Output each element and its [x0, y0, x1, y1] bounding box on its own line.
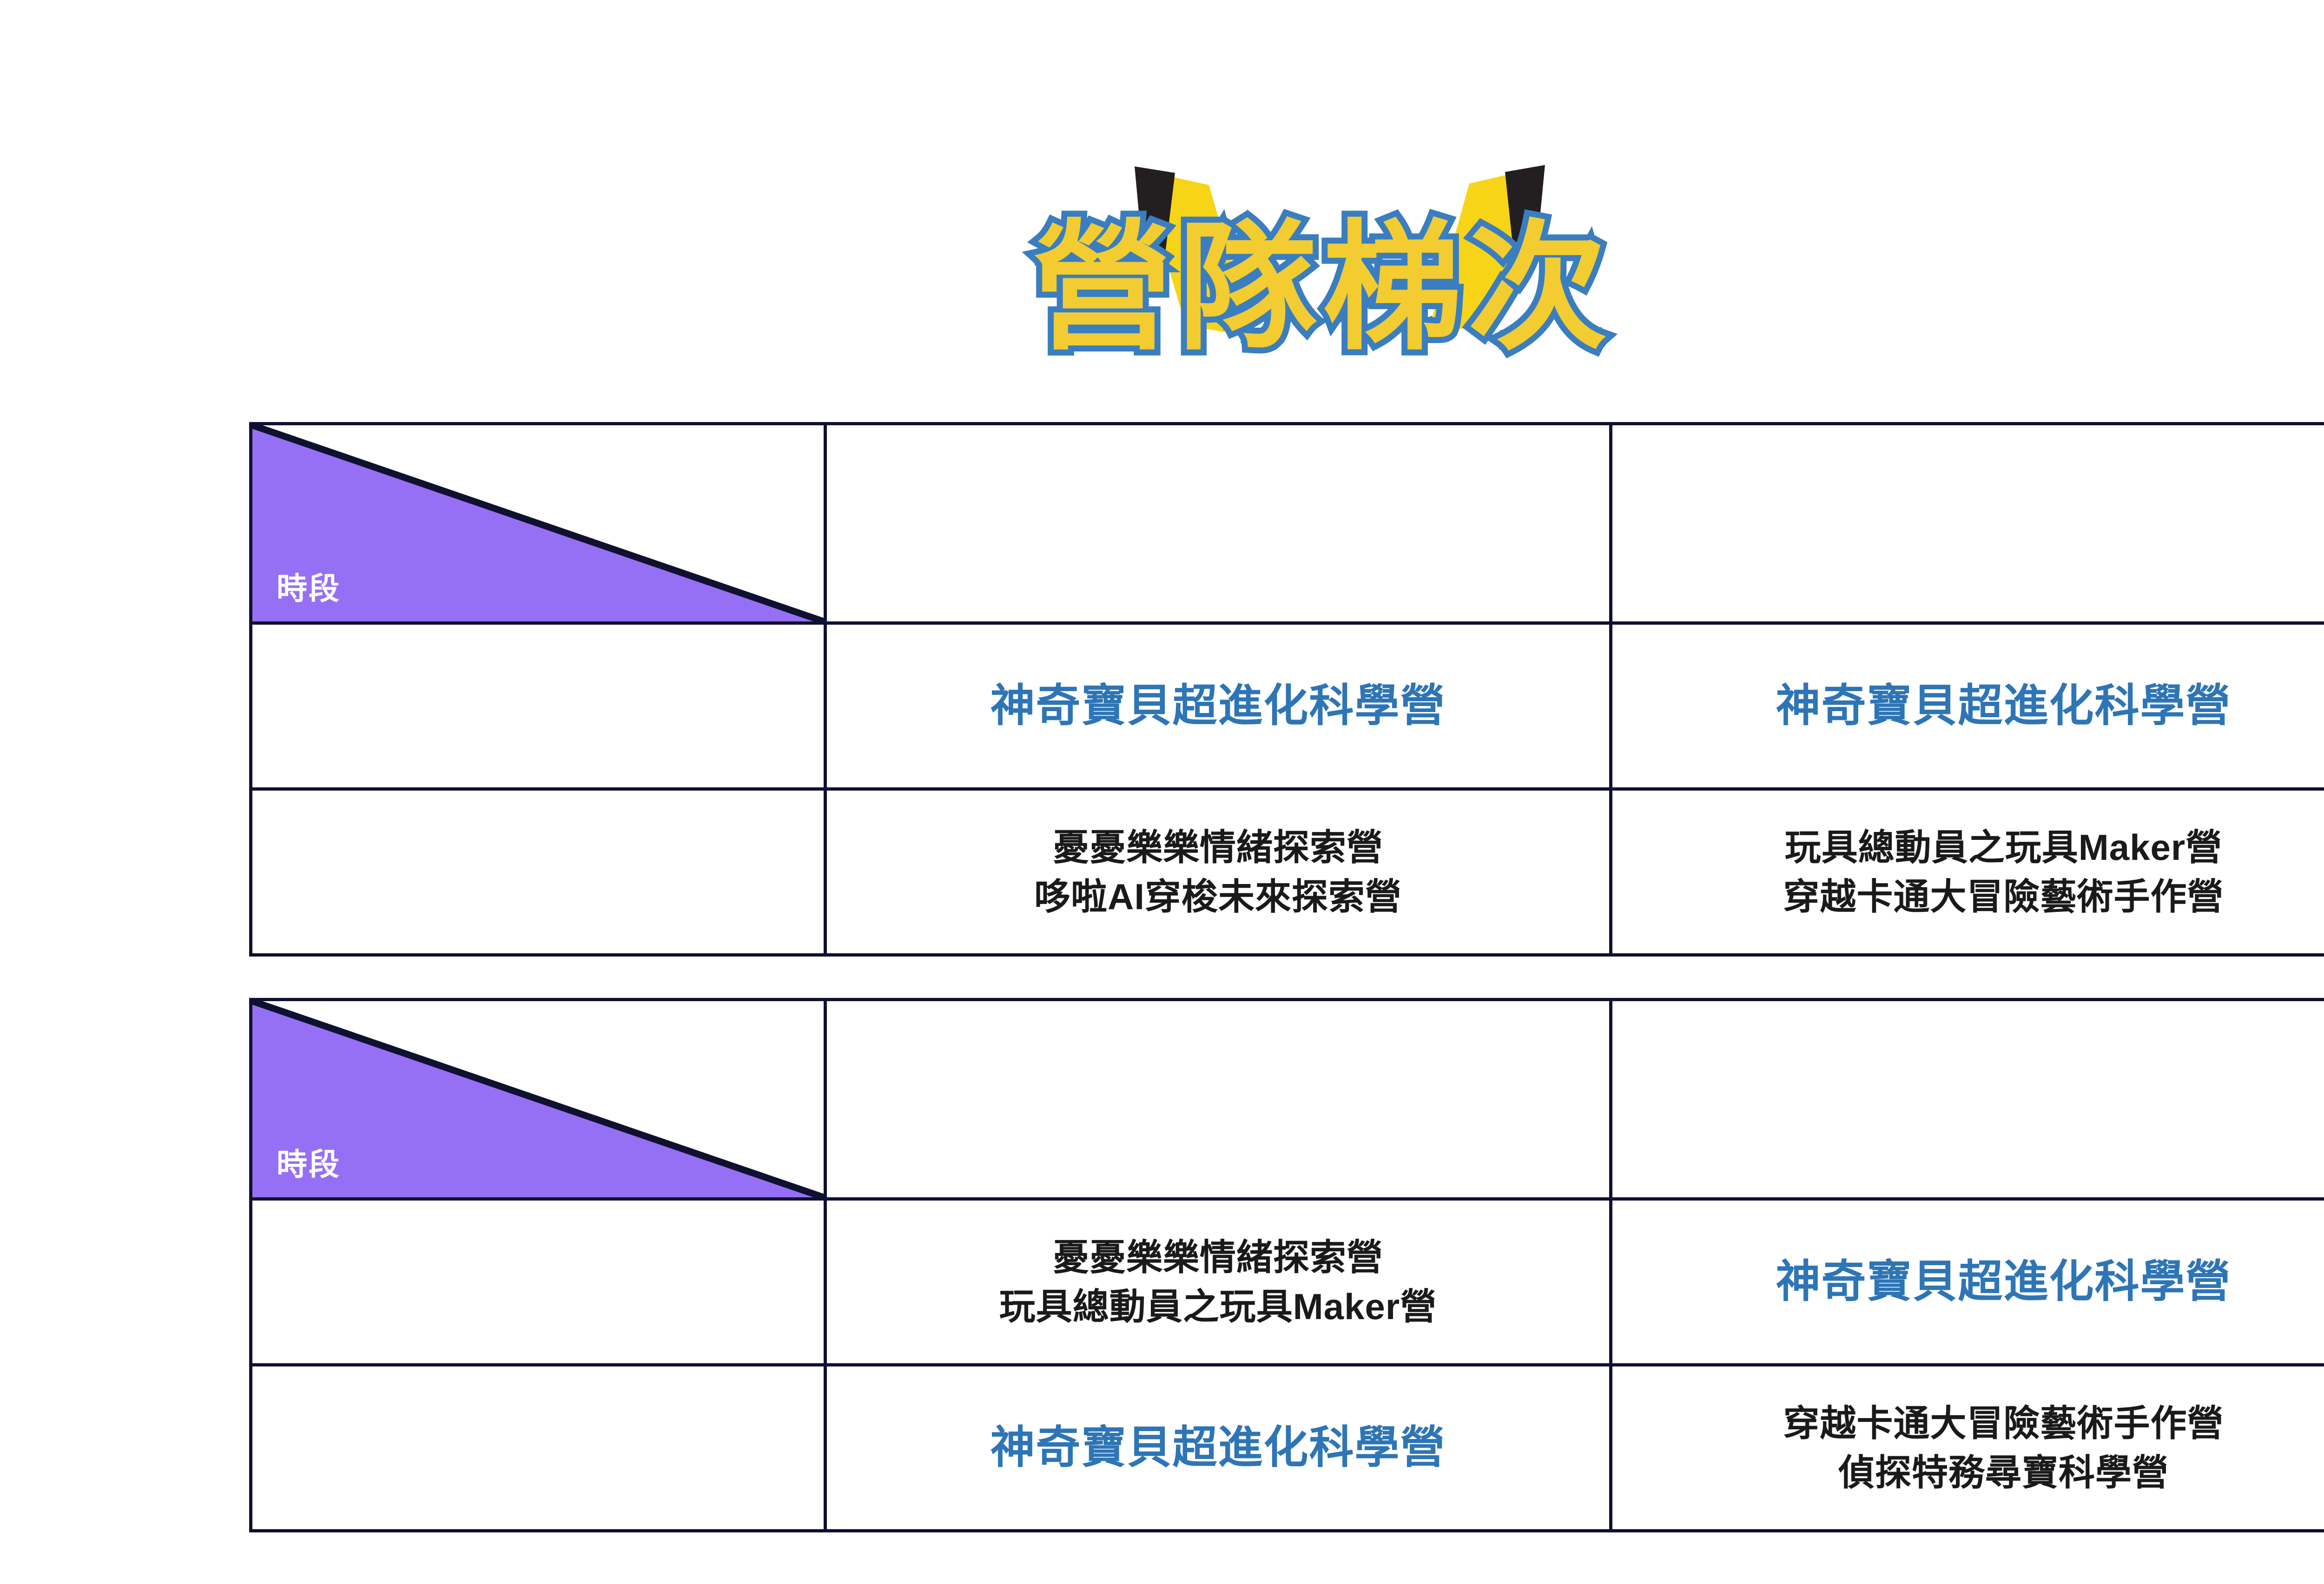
course-title: 穿越卡通大冒險藝術手作營	[1612, 1399, 2324, 1448]
course-title: 憂憂樂樂情緒探索營	[827, 1233, 1609, 1282]
table-row: 下午班13:30-16:30 憂憂樂樂情緒探索營 哆啦AI穿梭未來探索營 玩具總…	[251, 789, 2324, 955]
course-cell: 憂憂樂樂情緒探索營 玩具總動員之玩具Maker營	[825, 1199, 1611, 1365]
course-title: 哆啦AI穿梭未來探索營	[827, 872, 1609, 921]
course-cell: 憂憂樂樂情緒探索營 哆啦AI穿梭未來探索營	[825, 789, 1611, 955]
page-header: 營隊梯次	[0, 65, 2324, 409]
course-title: 神奇寶貝超進化科學營	[1612, 680, 2324, 732]
corner-label-session: 梯次	[739, 1015, 803, 1060]
course-title: 玩具總動員之玩具Maker營	[827, 1282, 1609, 1331]
course-cell: 神奇寶貝超進化科學營	[825, 623, 1611, 789]
table-header-row: 梯次 時段 第六梯次：8/10-8/14 第八梯次：8/24-8/28	[251, 1000, 2324, 1199]
table-row: 上午班9:00-12:00 憂憂樂樂情緒探索營 玩具總動員之玩具Maker營 神…	[251, 1199, 2324, 1365]
session-header-2: 第四梯次：7/27-7/31	[1611, 424, 2324, 623]
session-header-1: 第二梯次：7/13-7/17	[825, 424, 1611, 623]
course-cell: 玩具總動員之玩具Maker營 穿越卡通大冒險藝術手作營	[1611, 789, 2324, 955]
course-title: 憂憂樂樂情緒探索營	[827, 823, 1609, 872]
table-row: 下午班13:30-16:30 神奇寶貝超進化科學營 穿越卡通大冒險藝術手作營 偵…	[251, 1365, 2324, 1531]
table-header-row: 梯次 時段 第二梯次：7/13-7/17 第四梯次：7/27-7/31	[251, 424, 2324, 623]
course-title: 神奇寶貝超進化科學營	[1612, 1256, 2324, 1307]
course-cell: 神奇寶貝超進化科學營	[825, 1365, 1611, 1531]
corner-split-cell: 梯次 時段	[251, 424, 825, 623]
course-title: 穿越卡通大冒險藝術手作營	[1612, 872, 2324, 921]
session-header-1: 第六梯次：8/10-8/14	[825, 1000, 1611, 1199]
course-title: 神奇寶貝超進化科學營	[827, 1422, 1609, 1473]
timeslot-label-morning: 上午班9:00-12:00	[251, 1199, 825, 1365]
course-cell: 神奇寶貝超進化科學營	[1611, 1199, 2324, 1365]
course-title: 偵探特務尋寶科學營	[1612, 1448, 2324, 1497]
page-title: 營隊梯次	[974, 218, 1671, 358]
course-title: 神奇寶貝超進化科學營	[827, 680, 1609, 732]
title-artwork: 營隊梯次	[974, 65, 1671, 409]
corner-label-session: 梯次	[739, 439, 803, 484]
schedule-table-august: 梯次 時段 第六梯次：8/10-8/14 第八梯次：8/24-8/28 上午班9…	[249, 998, 2324, 1532]
corner-label-timeslot: 時段	[277, 1140, 341, 1184]
course-cell: 神奇寶貝超進化科學營	[1611, 623, 2324, 789]
timeslot-label-afternoon: 下午班13:30-16:30	[251, 1365, 825, 1531]
session-header-2: 第八梯次：8/24-8/28	[1611, 1000, 2324, 1199]
corner-split-cell: 梯次 時段	[251, 1000, 825, 1199]
schedule-table-july: 梯次 時段 第二梯次：7/13-7/17 第四梯次：7/27-7/31 上午班9…	[249, 422, 2324, 957]
table-row: 上午班9:00-12:00 神奇寶貝超進化科學營 神奇寶貝超進化科學營	[251, 623, 2324, 789]
timeslot-label-afternoon: 下午班13:30-16:30	[251, 789, 825, 955]
course-title: 玩具總動員之玩具Maker營	[1612, 823, 2324, 872]
timeslot-label-morning: 上午班9:00-12:00	[251, 623, 825, 789]
course-cell: 穿越卡通大冒險藝術手作營 偵探特務尋寶科學營	[1611, 1365, 2324, 1531]
corner-label-timeslot: 時段	[277, 564, 341, 608]
